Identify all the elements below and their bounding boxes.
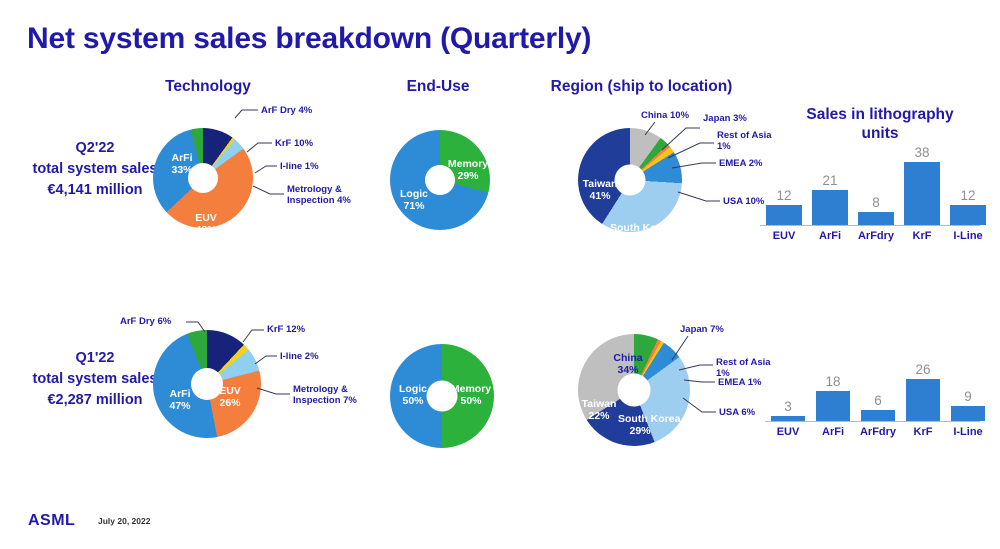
footer-date: July 20, 2022 <box>98 516 150 526</box>
bar-value-arfdry: 6 <box>861 393 895 408</box>
bar-krf <box>906 379 940 421</box>
bar-category-euv: EUV <box>767 426 809 438</box>
callout-emea-q1: EMEA 1% <box>718 377 761 388</box>
leader-lines-region-q1 <box>0 0 1000 549</box>
bar-category-krf: KrF <box>902 426 944 438</box>
bar-arfdry <box>861 410 895 421</box>
callout-usa-q1: USA 6% <box>719 407 755 418</box>
bar-value-iline: 9 <box>951 389 985 404</box>
bar-iline <box>951 406 985 421</box>
asml-logo: ASML <box>28 512 75 530</box>
bar-axis <box>765 421 980 422</box>
bar-category-arfi: ArFi <box>812 426 854 438</box>
bar-arfi <box>816 391 850 421</box>
bar-euv <box>771 416 805 421</box>
bar-value-arfi: 18 <box>816 374 850 389</box>
bar-value-krf: 26 <box>906 362 940 377</box>
callout-japan-q1: Japan 7% <box>680 324 724 335</box>
bar-category-arfdry: ArFdry <box>857 426 899 438</box>
bar-category-iline: I-Line <box>947 426 989 438</box>
bar-chart-units-q1: 3 EUV 18 ArFi 6 ArFdry 26 KrF 9 I-Line <box>765 362 980 422</box>
bar-value-euv: 3 <box>771 399 805 414</box>
slide-canvas: Net system sales breakdown (Quarterly) T… <box>0 0 1000 549</box>
